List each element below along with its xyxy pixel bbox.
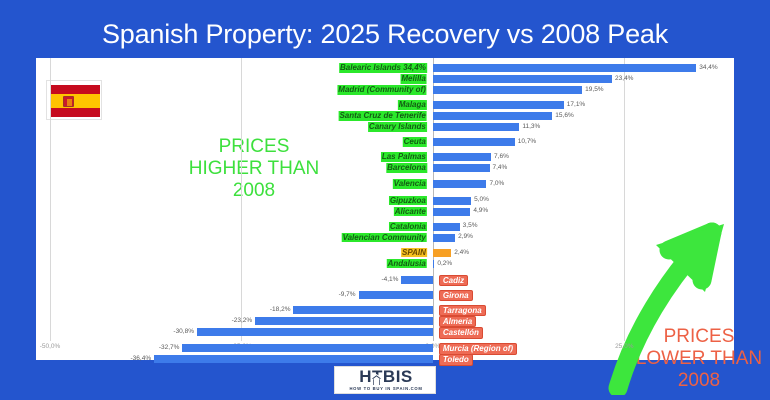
- htbis-logo: HTBIS HOW TO BUY IN SPAIN.COM: [334, 366, 436, 394]
- bar: [433, 123, 520, 131]
- gridline: [50, 58, 51, 341]
- bar-value-label: 10,7%: [518, 138, 536, 146]
- category-label-tag: Malaga: [398, 100, 427, 110]
- gridline: [241, 58, 242, 341]
- category-label-tag: Barcelona: [386, 163, 427, 173]
- bar: [182, 344, 432, 352]
- category-label-tag: Catalonia: [389, 222, 427, 232]
- x-axis-tick-label: 25,0%: [615, 343, 633, 350]
- bar-value-label: 17,1%: [567, 101, 585, 109]
- bar: [359, 291, 433, 299]
- poster-frame: Spanish Property: 2025 Recovery vs 2008 …: [0, 0, 770, 400]
- bar: [433, 164, 490, 172]
- flag-stripe-top: [50, 85, 100, 94]
- bar-value-label: -32,7%: [159, 344, 180, 352]
- bar: [433, 208, 471, 216]
- category-label-tag: Almeria: [439, 316, 476, 328]
- category-label-tag: Gipuzkoa: [389, 196, 427, 206]
- category-label-tag: Madrid (Community of): [337, 85, 427, 95]
- bar-value-label: 15,6%: [555, 112, 573, 120]
- category-label-tag: Alicante: [394, 207, 427, 217]
- bar: [433, 112, 552, 120]
- bar-value-label: 19,5%: [585, 86, 603, 94]
- category-label-tag: Cadiz: [439, 275, 468, 287]
- bar: [433, 153, 491, 161]
- bar: [293, 306, 432, 314]
- logo-wordmark: HTBIS: [335, 368, 437, 386]
- bar-value-label: -9,7%: [339, 291, 356, 299]
- bar: [433, 86, 582, 94]
- bar-value-label: 3,5%: [463, 222, 478, 230]
- flag-stripe-bottom: [50, 108, 100, 117]
- category-label-tag: Andalusia: [387, 259, 427, 269]
- category-label-tag: Balearic Islands 34,4%: [339, 63, 427, 73]
- flag-stripe-middle: [50, 94, 100, 108]
- flag-coat-of-arms: [63, 96, 74, 107]
- bar-value-label: 34,4%: [699, 64, 717, 72]
- bar-value-label: 2,4%: [454, 249, 469, 257]
- spain-flag-icon: [46, 80, 102, 120]
- bar: [154, 355, 433, 363]
- bar: [197, 328, 433, 336]
- category-label-tag: SPAIN: [401, 248, 427, 258]
- bar-value-label: 11,3%: [522, 123, 540, 131]
- x-axis-tick-label: -50,0%: [40, 343, 61, 350]
- category-label-tag: Ceuta: [403, 137, 427, 147]
- category-label-tag: Tarragona: [439, 305, 486, 317]
- bar-value-label: -4,1%: [381, 276, 398, 284]
- bar-value-label: 7,4%: [493, 164, 508, 172]
- bar: [433, 197, 471, 205]
- bar: [433, 223, 460, 231]
- bar-value-label: 7,6%: [494, 153, 509, 161]
- bar: [433, 101, 564, 109]
- category-label-tag: Girona: [439, 290, 473, 302]
- chart-panel: PRICES HIGHER THAN 2008 PRICES LOWER THA…: [36, 58, 734, 360]
- bar-value-label: 5,0%: [474, 196, 489, 204]
- bar: [433, 260, 435, 268]
- logo-tagline: HOW TO BUY IN SPAIN.COM: [335, 386, 437, 391]
- bar-value-label: 2,9%: [458, 233, 473, 241]
- category-label-tag: Santa Cruz de Tenerife: [338, 111, 426, 121]
- bar: [433, 249, 451, 257]
- bar-value-label: -18,2%: [270, 306, 291, 314]
- bar-value-label: 4,9%: [473, 207, 488, 215]
- bar: [433, 180, 487, 188]
- bar-value-label: -23,2%: [232, 317, 253, 325]
- bar-value-label: 0,2%: [437, 260, 452, 268]
- bar: [433, 138, 515, 146]
- bar-value-label: -30,8%: [173, 328, 194, 336]
- bar: [255, 317, 433, 325]
- bar: [433, 234, 455, 242]
- bar: [433, 64, 696, 72]
- gridline: [624, 58, 625, 341]
- category-label-tag: Murcia (Region of): [439, 343, 517, 355]
- category-label-tag: Valencian Community: [342, 233, 427, 243]
- growth-arrow-icon: [506, 120, 764, 395]
- category-label-tag: Melilla: [400, 74, 426, 84]
- bar-value-label: 23,4%: [615, 75, 633, 83]
- page-title: Spanish Property: 2025 Recovery vs 2008 …: [0, 14, 770, 54]
- category-label-tag: Canary Islands: [368, 122, 427, 132]
- bar-value-label: 7,0%: [489, 180, 504, 188]
- bar-value-label: -36,4%: [131, 355, 152, 363]
- category-label-tag: Valencia: [393, 179, 427, 189]
- bar: [401, 276, 432, 284]
- category-label-tag: Toledo: [439, 354, 473, 366]
- annotation-prices-higher: PRICES HIGHER THAN 2008: [154, 136, 354, 202]
- category-label-tag: Las Palmas: [381, 152, 427, 162]
- category-label-tag: Castellón: [439, 327, 483, 339]
- bar: [433, 75, 612, 83]
